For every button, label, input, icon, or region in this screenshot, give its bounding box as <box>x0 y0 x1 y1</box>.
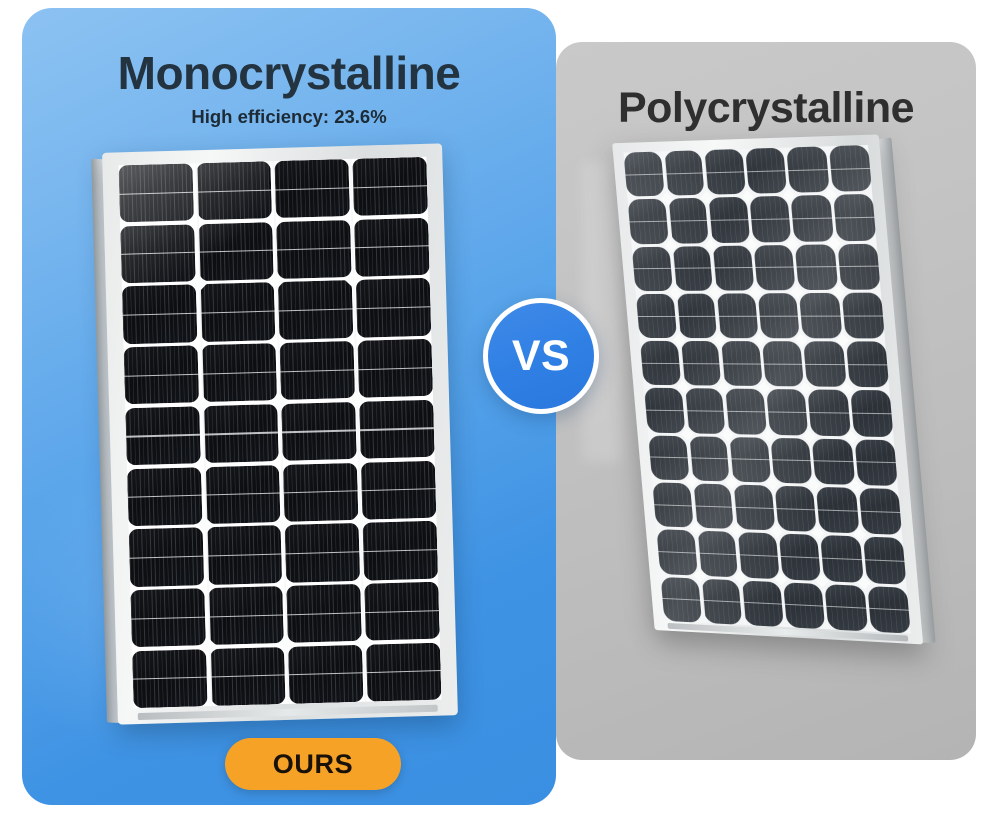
solar-cell <box>786 146 829 193</box>
solar-cell <box>680 341 721 386</box>
solar-cell <box>279 341 355 400</box>
solar-cell <box>632 246 673 291</box>
solar-cell <box>837 243 881 289</box>
solar-cell <box>720 341 762 386</box>
solar-cell <box>820 535 863 582</box>
solar-cell <box>355 278 431 337</box>
solar-cell <box>712 245 754 290</box>
solar-cell <box>867 586 911 634</box>
solar-cell <box>807 390 850 436</box>
solar-cell <box>656 530 697 576</box>
solar-cell <box>281 402 357 461</box>
solar-cell <box>692 484 734 530</box>
solar-cell <box>129 528 205 587</box>
background-watermark-stripe <box>582 162 622 462</box>
solar-cell <box>672 246 713 291</box>
solar-cell <box>636 294 677 338</box>
solar-cell <box>284 523 360 582</box>
solar-cell <box>782 582 825 629</box>
solar-cell <box>203 404 279 463</box>
monocrystalline-heading-group: Monocrystalline High efficiency: 23.6% <box>22 46 556 128</box>
solar-cell <box>854 439 898 486</box>
solar-cell <box>770 438 813 484</box>
solar-cell <box>364 582 440 641</box>
solar-cell <box>667 198 708 243</box>
ours-badge: OURS <box>225 738 401 790</box>
solar-cell <box>733 485 775 531</box>
solar-cell <box>745 148 788 194</box>
solar-cell <box>729 437 771 483</box>
solar-cell <box>274 159 350 218</box>
solar-cell <box>206 525 282 584</box>
solar-cell-grid <box>623 145 910 634</box>
monocrystalline-panel-card: Monocrystalline High efficiency: 23.6% O… <box>22 8 556 805</box>
solar-cell <box>130 588 206 647</box>
solar-cell <box>210 647 286 706</box>
solar-cell <box>354 218 430 277</box>
solar-cell <box>757 293 800 338</box>
solar-cell <box>201 343 277 402</box>
solar-cell <box>737 532 779 578</box>
solar-cell <box>286 584 362 643</box>
polycrystalline-title: Polycrystalline <box>556 84 976 133</box>
solar-cell <box>833 194 877 241</box>
solar-cell <box>283 462 359 521</box>
comparison-infographic: Monocrystalline High efficiency: 23.6% O… <box>0 0 1003 813</box>
monocrystalline-title: Monocrystalline <box>22 46 556 100</box>
solar-cell <box>688 436 730 482</box>
solar-cell <box>644 388 685 433</box>
solar-cell <box>795 244 838 290</box>
versus-label: VS <box>512 335 570 378</box>
solar-cell <box>845 342 889 388</box>
solar-cell <box>124 345 200 404</box>
solar-cell <box>828 145 872 192</box>
panel-bottom-rail <box>138 705 438 720</box>
solar-cell <box>648 435 689 480</box>
solar-cell <box>278 280 354 339</box>
solar-cell <box>366 642 442 701</box>
solar-cell <box>858 488 902 535</box>
solar-cell <box>816 487 859 534</box>
solar-cell <box>749 196 792 242</box>
solar-cell <box>676 294 717 339</box>
solar-cell <box>790 195 833 241</box>
solar-cell <box>704 149 746 195</box>
solar-cell <box>862 537 906 585</box>
monocrystalline-solar-panel-image <box>102 143 458 724</box>
solar-cell <box>205 465 281 524</box>
solar-cell <box>196 161 272 220</box>
solar-cell <box>684 389 725 434</box>
solar-cell <box>778 534 821 581</box>
solar-cell <box>122 285 198 344</box>
solar-cell <box>357 339 433 398</box>
solar-cell <box>799 293 842 339</box>
solar-cell <box>766 389 809 435</box>
polycrystalline-solar-panel-image <box>612 134 923 644</box>
solar-cell <box>803 341 846 387</box>
solar-cell <box>652 482 693 527</box>
solar-cell <box>761 341 804 387</box>
solar-cell <box>774 486 817 533</box>
solar-cell <box>362 521 438 580</box>
versus-badge: VS <box>483 298 599 414</box>
solar-cell <box>200 283 276 342</box>
solar-cell <box>628 199 669 244</box>
solar-cell <box>132 649 208 708</box>
solar-cell <box>127 467 203 526</box>
solar-cell <box>716 293 758 338</box>
solar-cell <box>661 577 702 623</box>
panel-frame <box>612 134 923 644</box>
solar-cell <box>663 150 704 196</box>
solar-cell <box>276 220 352 279</box>
solar-cell <box>725 389 767 435</box>
monocrystalline-efficiency-text: High efficiency: 23.6% <box>22 106 556 128</box>
solar-cell <box>623 152 664 197</box>
solar-cell <box>288 645 364 704</box>
solar-cell <box>198 222 274 281</box>
solar-cell-grid <box>118 157 441 708</box>
solar-cell <box>125 406 201 465</box>
solar-cell <box>850 390 894 437</box>
solar-cell <box>208 586 284 645</box>
panel-frame <box>102 143 458 724</box>
solar-cell <box>696 531 738 577</box>
solar-cell <box>741 580 783 627</box>
solar-cell <box>812 438 855 485</box>
solar-cell <box>824 584 867 632</box>
solar-cell <box>640 341 681 386</box>
solar-cell <box>118 163 194 222</box>
solar-cell <box>841 292 885 338</box>
solar-cell <box>701 578 743 624</box>
solar-cell <box>753 245 796 291</box>
solar-cell <box>120 224 196 283</box>
solar-cell <box>708 197 750 243</box>
polycrystalline-panel-card: Polycrystalline Low efficiency: 14% OTHE… <box>556 42 976 760</box>
solar-cell <box>360 460 436 519</box>
solar-cell <box>359 400 435 459</box>
solar-cell <box>352 157 428 216</box>
